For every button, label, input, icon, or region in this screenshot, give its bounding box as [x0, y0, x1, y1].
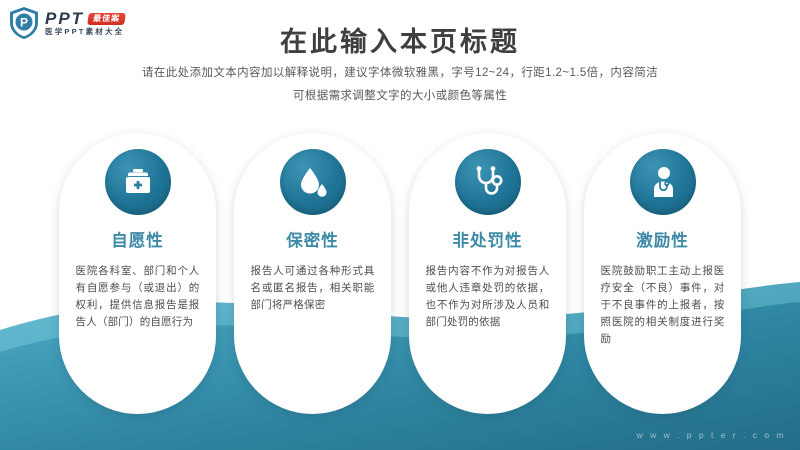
doctor-icon: [630, 149, 696, 215]
shield-icon: P: [8, 6, 40, 40]
card-title: 非处罚性: [453, 233, 523, 250]
card-body: 报告人可通过各种形式具名或匿名报告，相关职能部门将严格保密: [251, 263, 375, 314]
feature-card-non-punitive[interactable]: 非处罚性 报告内容不作为对报告人或他人违章处罚的依据，也不作为对所涉及人员和部门…: [409, 133, 566, 414]
subtitle-line-1: 请在此处添加文本内容加以解释说明，建议字体微软雅黑，字号12~24，行距1.2~…: [0, 62, 800, 85]
card-title: 激励性: [636, 233, 689, 250]
site-watermark: w w w . p p t e r . c o m: [637, 430, 786, 440]
water-drop-icon: [280, 149, 346, 215]
brand-logo[interactable]: P PPT 最佳案 医学PPT素材大全: [8, 6, 125, 40]
page-subtitle: 请在此处添加文本内容加以解释说明，建议字体微软雅黑，字号12~24，行距1.2~…: [0, 62, 800, 108]
feature-card-confidentiality[interactable]: 保密性 报告人可通过各种形式具名或匿名报告，相关职能部门将严格保密: [234, 133, 391, 414]
medical-kit-icon: [105, 149, 171, 215]
feature-card-incentive[interactable]: 激励性 医院鼓励职工主动上报医疗安全（不良）事件，对于不良事件的上报者，按照医院…: [584, 133, 741, 414]
card-body: 医院各科室、部门和个人有自愿参与（或退出）的权利，提供信息报告是报告人（部门）的…: [76, 263, 200, 331]
card-body: 医院鼓励职工主动上报医疗安全（不良）事件，对于不良事件的上报者，按照医院的相关制…: [601, 263, 725, 348]
feature-card-list: 自愿性 医院各科室、部门和个人有自愿参与（或退出）的权利，提供信息报告是报告人（…: [0, 133, 800, 415]
logo-badge: 最佳案: [87, 13, 126, 25]
card-title: 保密性: [286, 233, 339, 250]
subtitle-line-2: 可根据需求调整文字的大小或颜色等属性: [0, 85, 800, 108]
logo-tagline: 医学PPT素材大全: [45, 28, 125, 36]
logo-brand-text: PPT: [45, 10, 84, 27]
svg-text:P: P: [20, 16, 28, 30]
card-title: 自愿性: [111, 233, 164, 250]
feature-card-voluntariness[interactable]: 自愿性 医院各科室、部门和个人有自愿参与（或退出）的权利，提供信息报告是报告人（…: [59, 133, 216, 414]
stethoscope-icon: [455, 149, 521, 215]
card-body: 报告内容不作为对报告人或他人违章处罚的依据，也不作为对所涉及人员和部门处罚的依据: [426, 263, 550, 331]
